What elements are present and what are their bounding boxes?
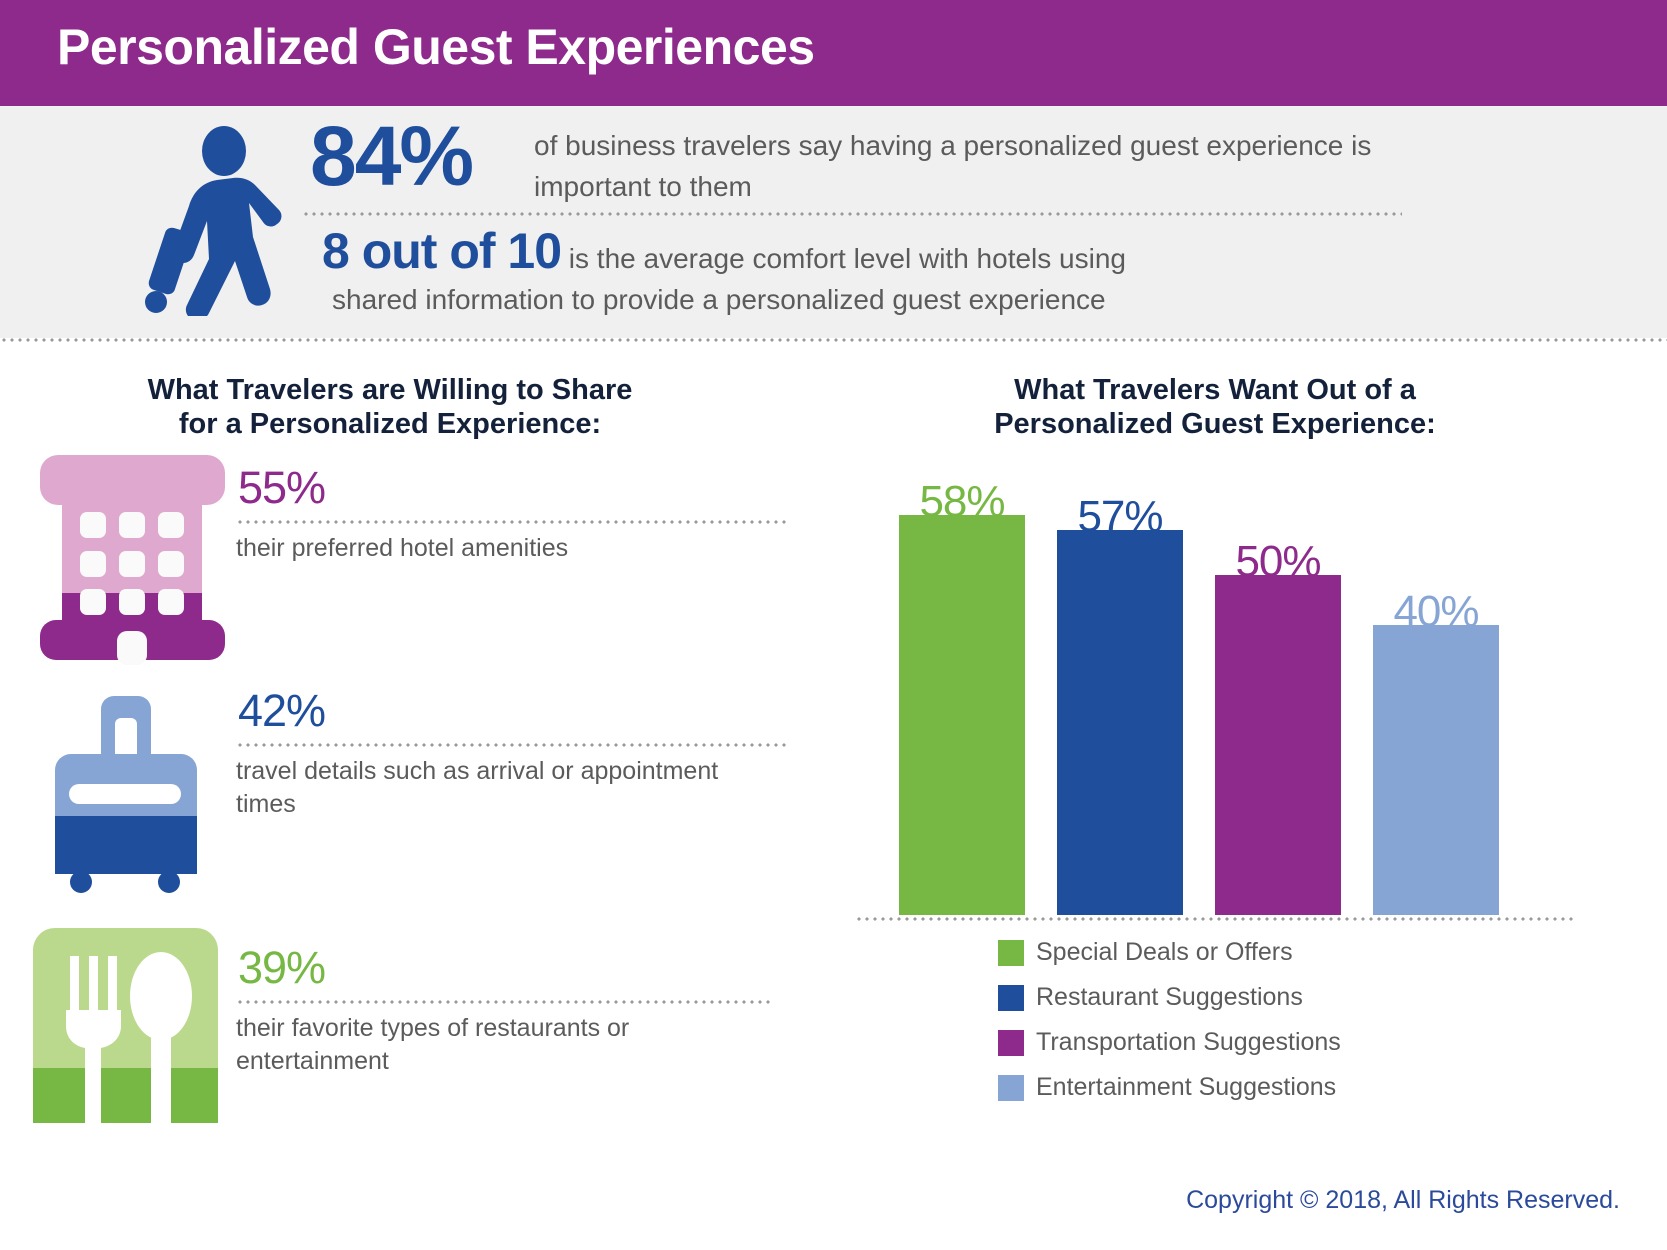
- legend-item-restaurant: Restaurant Suggestions: [998, 975, 1558, 1020]
- stat-item-restaurants-entertainment: 39% their favorite types of restaurants …: [25, 928, 765, 1143]
- legend-item-entertainment: Entertainment Suggestions: [998, 1065, 1558, 1110]
- right-section-heading: What Travelers Want Out of a Personalize…: [905, 373, 1525, 441]
- stat-dotted-rule: [236, 1000, 771, 1004]
- fork-and-spoon-dining-icon: [33, 928, 218, 1128]
- hotel-building-icon: [40, 455, 225, 670]
- stat-item-travel-details: 42% travel details such as arrival or ap…: [40, 686, 760, 901]
- bar-entertainment-suggestions: [1373, 625, 1499, 915]
- stat-percent-value: 42%: [238, 688, 325, 733]
- legend-swatch-icon: [998, 940, 1024, 966]
- left-heading-line2: for a Personalized Experience:: [179, 408, 601, 440]
- stat-percent-value: 55%: [238, 465, 325, 510]
- bar-chart: 58% 57% 50% 40%: [855, 450, 1575, 930]
- legend-label: Transportation Suggestions: [1036, 1030, 1341, 1055]
- stat-description: their preferred hotel amenities: [236, 532, 776, 565]
- stat-84-value: 84%: [310, 114, 472, 198]
- copyright-notice: Copyright © 2018, All Rights Reserved.: [1186, 1186, 1620, 1215]
- page-title: Personalized Guest Experiences: [57, 18, 815, 76]
- bar-transportation-suggestions: [1215, 575, 1341, 915]
- stat-8of10-text-line1: is the average comfort level with hotels…: [561, 243, 1126, 274]
- legend-item-transportation: Transportation Suggestions: [998, 1020, 1558, 1065]
- left-section-heading: What Travelers are Willing to Share for …: [65, 373, 715, 441]
- stat-description: their favorite types of restaurants or e…: [236, 1012, 776, 1077]
- legend-swatch-icon: [998, 1030, 1024, 1056]
- bar-restaurant-suggestions: [1057, 530, 1183, 915]
- legend-swatch-icon: [998, 985, 1024, 1011]
- legend-swatch-icon: [998, 1075, 1024, 1101]
- stat-dotted-rule: [236, 520, 786, 524]
- stat-84-percent: 84% of business travelers say having a p…: [310, 118, 1420, 208]
- stat-description: travel details such as arrival or appoin…: [236, 755, 766, 820]
- stat-item-hotel-amenities: 55% their preferred hotel amenities: [40, 455, 760, 670]
- legend-label: Entertainment Suggestions: [1036, 1075, 1336, 1100]
- traveler-with-luggage-icon: [118, 126, 298, 316]
- top-band-bottom-divider: [0, 338, 1667, 342]
- stat-dotted-rule: [236, 743, 786, 747]
- right-heading-line2: Personalized Guest Experience:: [994, 408, 1436, 440]
- legend-label: Special Deals or Offers: [1036, 940, 1293, 965]
- legend-item-special-deals: Special Deals or Offers: [998, 930, 1558, 975]
- legend-label: Restaurant Suggestions: [1036, 985, 1303, 1010]
- infographic-page: Personalized Guest Experiences 84% of bu…: [0, 0, 1667, 1250]
- left-heading-line1: What Travelers are Willing to Share: [148, 374, 633, 406]
- page-header: Personalized Guest Experiences: [0, 0, 1667, 106]
- right-heading-line1: What Travelers Want Out of a: [1014, 374, 1416, 406]
- stat-8of10-text-line2: shared information to provide a personal…: [332, 284, 1452, 316]
- stat-8of10-value: 8 out of 10: [322, 223, 561, 279]
- chart-baseline: [855, 917, 1575, 921]
- rolling-suitcase-icon: [55, 696, 210, 901]
- bar-special-deals: [899, 515, 1025, 915]
- stat-8-out-of-10: 8 out of 10 is the average comfort level…: [322, 222, 1442, 280]
- chart-legend: Special Deals or Offers Restaurant Sugge…: [998, 930, 1558, 1110]
- stat-84-text: of business travelers say having a perso…: [534, 126, 1424, 207]
- stat-percent-value: 39%: [238, 945, 325, 990]
- top-stats-divider: [302, 212, 1402, 216]
